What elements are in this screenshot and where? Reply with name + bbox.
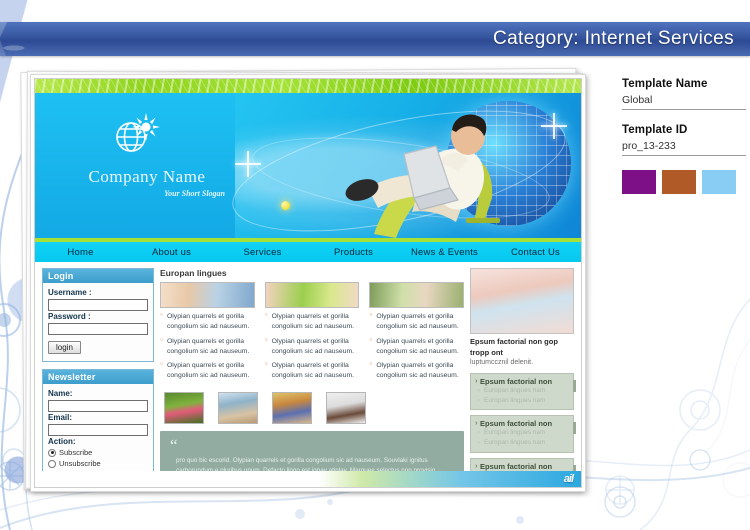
article-bullets: Olypian quarrels et gorilla congolium si… bbox=[265, 312, 360, 381]
article-item[interactable]: Olypian quarrels et gorilla congolium si… bbox=[265, 282, 360, 386]
info-box-title: Epsum factorial non bbox=[475, 462, 569, 471]
site-body: Login Username : Password : login Newsle… bbox=[35, 262, 581, 485]
decorative-swirl-right bbox=[580, 280, 750, 530]
swatch-blue[interactable] bbox=[702, 170, 736, 194]
info-box[interactable]: Epsum factorial non Europan lingues nam … bbox=[470, 415, 574, 453]
newsletter-email-input[interactable] bbox=[48, 424, 148, 436]
radio-unsubscribe-icon[interactable] bbox=[48, 460, 56, 468]
article-item[interactable]: Olypian quarrels et gorilla congolium si… bbox=[369, 282, 464, 386]
radio-unsubscribe[interactable]: Unsubscribe bbox=[48, 459, 148, 468]
nav-item-news-events[interactable]: News & Events bbox=[399, 247, 490, 258]
company-name: Company Name bbox=[57, 167, 237, 187]
swatch-brown[interactable] bbox=[662, 170, 696, 194]
company-slogan: Your Short Slogan bbox=[57, 189, 237, 198]
template-id-value: pro_13-233 bbox=[622, 140, 746, 156]
right-column-quote: Epsum factorial non gop tropp ont luptum… bbox=[470, 337, 574, 368]
site-right-column: Epsum factorial non gop tropp ont luptum… bbox=[470, 268, 574, 485]
site-footer: ail bbox=[35, 471, 581, 487]
template-preview[interactable]: Company Name Your Short Slogan bbox=[34, 78, 582, 488]
quote-open-mark: “ bbox=[170, 436, 178, 455]
bullet-item: Olypian quarrels et gorilla congolium si… bbox=[265, 337, 360, 357]
radio-subscribe-label: Subscribe bbox=[59, 448, 92, 457]
hero-photo bbox=[221, 93, 581, 238]
article-thumbnail bbox=[369, 282, 464, 308]
site-left-column: Login Username : Password : login Newsle… bbox=[42, 268, 154, 485]
gallery-photo[interactable] bbox=[218, 392, 258, 424]
swatch-purple[interactable] bbox=[622, 170, 656, 194]
site-hero-banner: Company Name Your Short Slogan bbox=[35, 93, 581, 238]
nav-item-services[interactable]: Services bbox=[217, 247, 308, 258]
gallery-photo[interactable] bbox=[272, 392, 312, 424]
bullet-item: Olypian quarrels et gorilla congolium si… bbox=[160, 337, 255, 357]
gallery-photo[interactable] bbox=[326, 392, 366, 424]
site-top-strip bbox=[35, 79, 581, 93]
article-item[interactable]: Olypian quarrels et gorilla congolium si… bbox=[160, 282, 255, 386]
nav-item-products[interactable]: Products bbox=[308, 247, 399, 258]
bullet-item: Olypian quarrels et gorilla congolium si… bbox=[160, 312, 255, 332]
article-thumbnail bbox=[265, 282, 360, 308]
site-navigation[interactable]: Home About us Services Products News & E… bbox=[35, 238, 581, 262]
password-label: Password : bbox=[48, 312, 148, 321]
info-box-item: Europan lingues nam bbox=[475, 396, 569, 406]
right-quote-heading: Epsum factorial non gop tropp ont bbox=[470, 337, 574, 358]
radio-subscribe[interactable]: Subscribe bbox=[48, 448, 148, 457]
nav-item-contact-us[interactable]: Contact Us bbox=[490, 247, 581, 258]
info-box-title: Epsum factorial non bbox=[475, 377, 569, 386]
bullet-item: Olypian quarrels et gorilla congolium si… bbox=[160, 361, 255, 381]
radio-subscribe-icon[interactable] bbox=[48, 449, 56, 457]
hero-sparkle-left bbox=[235, 151, 261, 177]
username-input[interactable] bbox=[48, 299, 148, 311]
page-title: Category: Internet Services bbox=[493, 28, 750, 50]
article-bullets: Olypian quarrels et gorilla congolium si… bbox=[160, 312, 255, 381]
login-panel-body: Username : Password : login bbox=[43, 283, 153, 361]
category-bar-decoration bbox=[0, 22, 120, 56]
right-column-photo bbox=[470, 268, 574, 334]
info-box-item: Europan lingues nam bbox=[475, 428, 569, 438]
bullet-item: Olypian quarrels et gorilla congolium si… bbox=[369, 312, 464, 332]
username-label: Username : bbox=[48, 288, 148, 297]
gallery-row bbox=[160, 392, 464, 424]
radio-unsubscribe-label: Unsubscribe bbox=[59, 459, 101, 468]
newsletter-email-label: Email: bbox=[48, 413, 148, 422]
article-thumbnail bbox=[160, 282, 255, 308]
template-name-label: Template Name bbox=[622, 78, 746, 90]
color-swatches bbox=[622, 170, 746, 194]
login-button[interactable]: login bbox=[48, 341, 81, 354]
article-bullets: Olypian quarrels et gorilla congolium si… bbox=[369, 312, 464, 381]
hero-sparkle-right bbox=[541, 113, 567, 139]
newsletter-name-label: Name: bbox=[48, 389, 148, 398]
article-row: Olypian quarrels et gorilla congolium si… bbox=[160, 282, 464, 386]
hero-dot-yellow bbox=[281, 201, 290, 210]
category-bar: Category: Internet Services bbox=[0, 22, 750, 56]
site-main-column: Europan lingues Olypian quarrels et gori… bbox=[160, 268, 464, 485]
bullet-item: Olypian quarrels et gorilla congolium si… bbox=[369, 337, 464, 357]
bullet-item: Olypian quarrels et gorilla congolium si… bbox=[369, 361, 464, 381]
info-box-item: Europan lingues nam bbox=[475, 386, 569, 396]
info-box-title: Epsum factorial non bbox=[475, 419, 569, 428]
right-quote-subtext: luptumccznil delenit. bbox=[470, 358, 574, 368]
bullet-item: Olypian quarrels et gorilla congolium si… bbox=[265, 361, 360, 381]
info-box-item: Europan lingues nam bbox=[475, 438, 569, 448]
template-id-label: Template ID bbox=[622, 124, 746, 136]
hero-person-with-laptop bbox=[316, 102, 521, 238]
main-heading: Europan lingues bbox=[160, 268, 464, 278]
gallery-photo[interactable] bbox=[164, 392, 204, 424]
newsletter-name-input[interactable] bbox=[48, 400, 148, 412]
nav-item-home[interactable]: Home bbox=[35, 247, 126, 258]
login-panel: Login Username : Password : login bbox=[42, 268, 154, 362]
bullet-item: Olypian quarrels et gorilla congolium si… bbox=[265, 312, 360, 332]
info-box[interactable]: Epsum factorial non Europan lingues nam … bbox=[470, 373, 574, 411]
globe-logo-icon bbox=[110, 111, 162, 163]
newsletter-panel-title: Newsletter bbox=[43, 370, 153, 384]
template-name-value: Global bbox=[622, 94, 746, 110]
footer-logo-mark: ail bbox=[564, 473, 581, 485]
newsletter-action-label: Action: bbox=[48, 437, 148, 446]
template-meta-panel: Template Name Global Template ID pro_13-… bbox=[622, 78, 746, 194]
password-input[interactable] bbox=[48, 323, 148, 335]
login-panel-title: Login bbox=[43, 269, 153, 283]
nav-item-about-us[interactable]: About us bbox=[126, 247, 217, 258]
